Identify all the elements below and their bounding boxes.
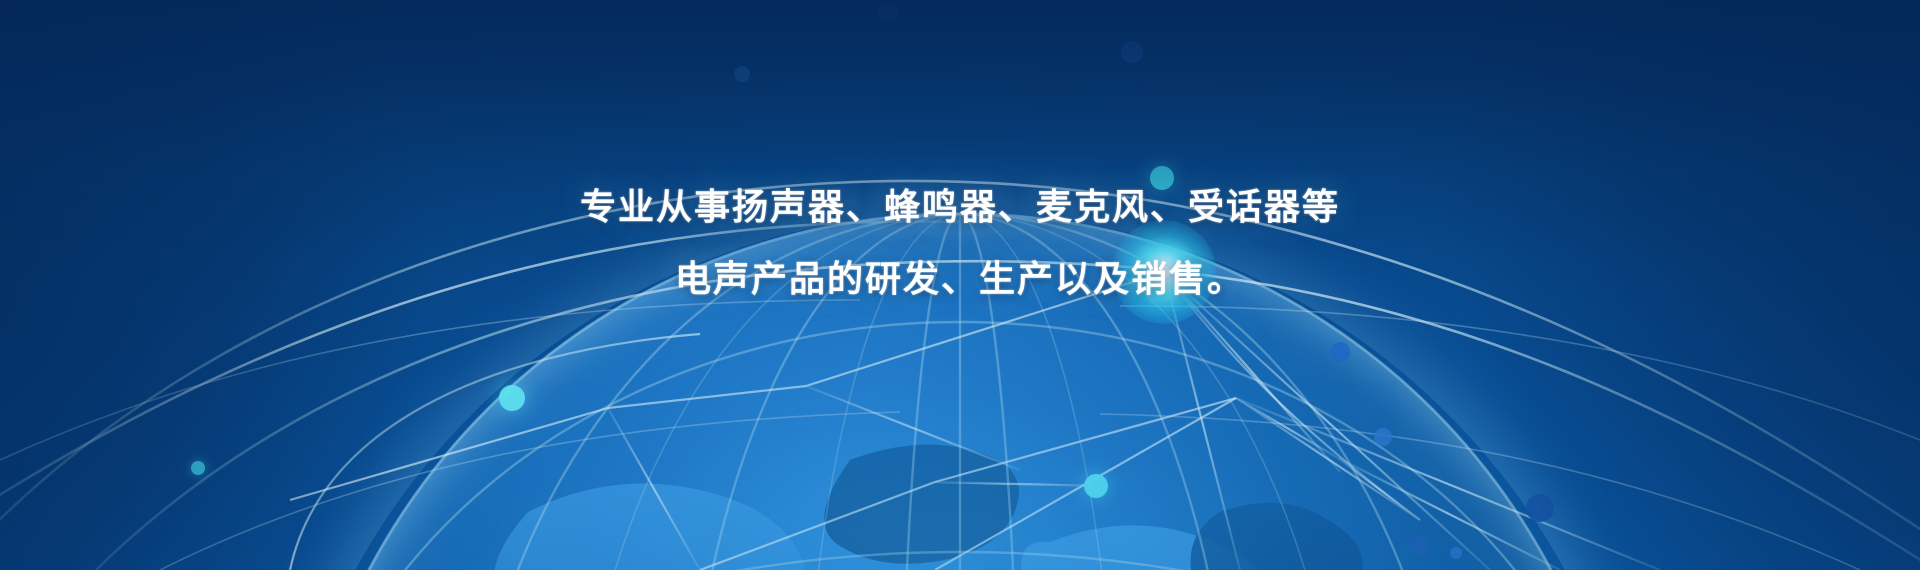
headline-line-2: 电声产品的研发、生产以及销售。 — [0, 250, 1920, 302]
headline-line-1: 专业从事扬声器、蜂鸣器、麦克风、受话器等 — [0, 178, 1920, 230]
hero-banner: 专业从事扬声器、蜂鸣器、麦克风、受话器等 电声产品的研发、生产以及销售。 — [0, 0, 1920, 570]
